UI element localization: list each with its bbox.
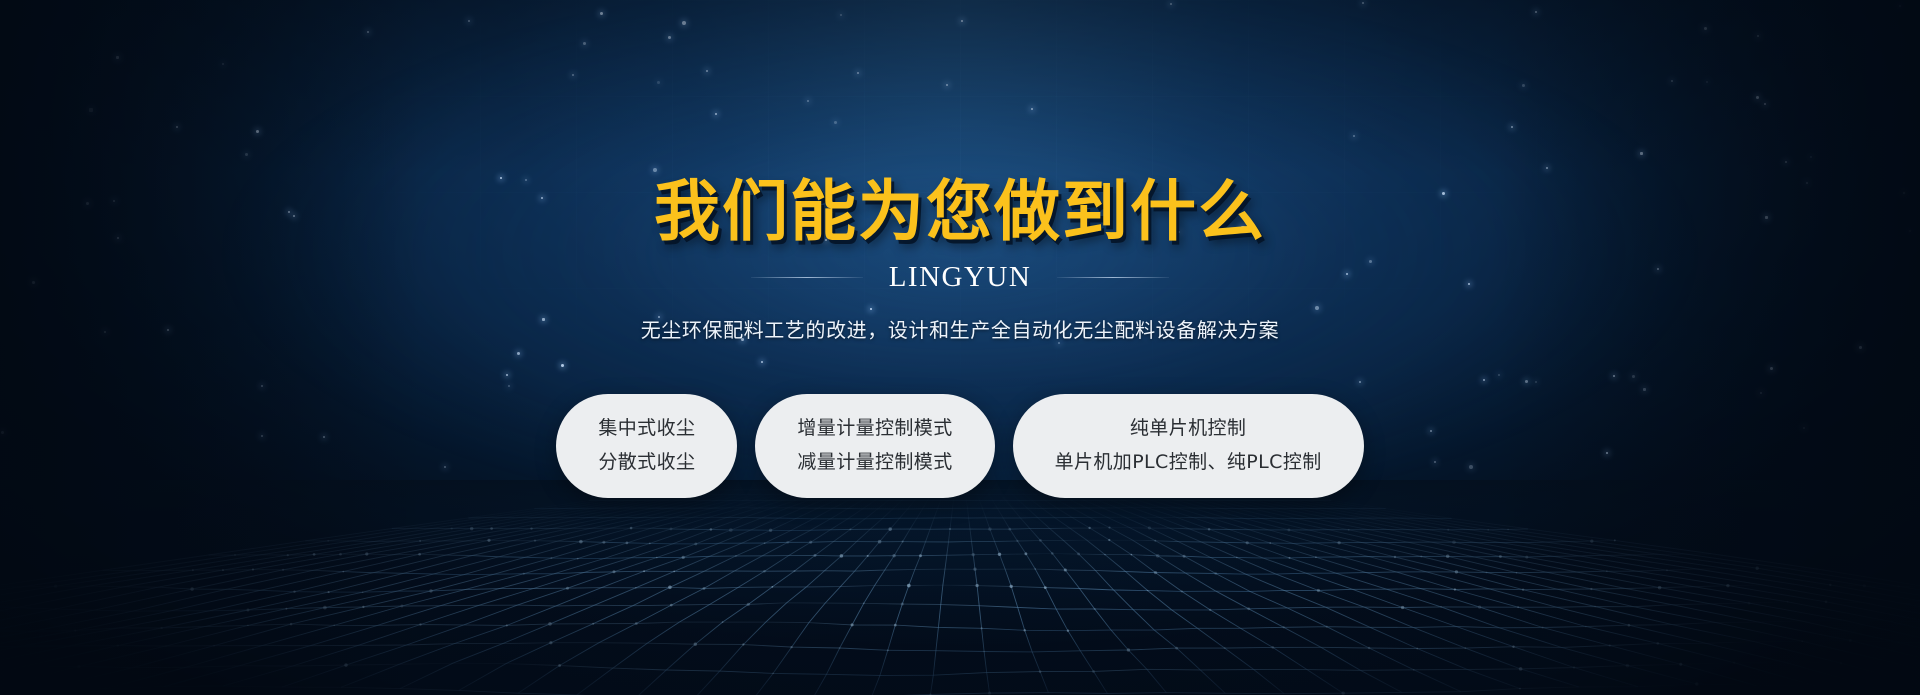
- card-line-secondary: 分散式收尘: [598, 452, 695, 474]
- divider-line-left: [751, 277, 863, 278]
- hero-banner: 我们能为您做到什么 LINGYUN 无尘环保配料工艺的改进，设计和生产全自动化无…: [0, 0, 1920, 695]
- banner-headline: 我们能为您做到什么: [654, 178, 1266, 245]
- feature-card-dust-collection[interactable]: 集中式收尘 分散式收尘: [556, 394, 737, 498]
- banner-content: 我们能为您做到什么 LINGYUN 无尘环保配料工艺的改进，设计和生产全自动化无…: [0, 0, 1920, 498]
- card-line-secondary: 减量计量控制模式: [797, 452, 952, 474]
- card-line-primary: 集中式收尘: [598, 418, 695, 440]
- feature-card-metering-mode[interactable]: 增量计量控制模式 减量计量控制模式: [755, 394, 994, 498]
- feature-card-control-system[interactable]: 纯单片机控制 单片机加PLC控制、纯PLC控制: [1013, 394, 1364, 498]
- divider-line-right: [1057, 277, 1169, 278]
- banner-eyebrow-row: LINGYUN: [751, 261, 1170, 294]
- card-line-primary: 增量计量控制模式: [797, 418, 952, 440]
- feature-card-list: 集中式收尘 分散式收尘 增量计量控制模式 减量计量控制模式 纯单片机控制 单片机…: [556, 394, 1363, 498]
- banner-eyebrow-text: LINGYUN: [889, 261, 1032, 294]
- card-line-secondary: 单片机加PLC控制、纯PLC控制: [1055, 452, 1322, 474]
- banner-subtitle: 无尘环保配料工艺的改进，设计和生产全自动化无尘配料设备解决方案: [641, 314, 1280, 343]
- card-line-primary: 纯单片机控制: [1130, 418, 1246, 440]
